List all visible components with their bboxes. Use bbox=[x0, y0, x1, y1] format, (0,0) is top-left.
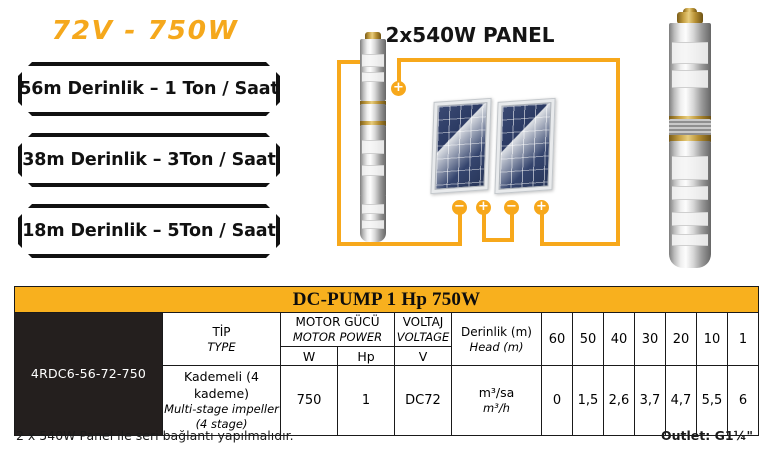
node-panel2-minus: − bbox=[504, 200, 519, 215]
spec-badge-label: 38m Derinlik – 3Ton / Saat bbox=[22, 150, 276, 170]
voltage-value-cell: DC72 bbox=[395, 366, 452, 435]
flow-value-cell: 2,6 bbox=[604, 366, 635, 435]
head-value-cell: 30 bbox=[635, 313, 666, 366]
type-header-cell: TİP TYPE bbox=[163, 313, 281, 366]
table-header-row-1: 4RDC6-56-72-750 TİP TYPE MOTOR GÜCÜ MOTO… bbox=[15, 313, 759, 347]
unit-v-cell: V bbox=[395, 347, 452, 366]
head-header-en: Head (m) bbox=[453, 340, 540, 354]
flow-value-cell: 4,7 bbox=[666, 366, 697, 435]
head-value-cell: 20 bbox=[666, 313, 697, 366]
solar-panel-cells bbox=[499, 102, 552, 190]
unit-hp-cell: Hp bbox=[338, 347, 395, 366]
wire-bottom-run-3 bbox=[540, 242, 620, 246]
head-value-cell: 40 bbox=[604, 313, 635, 366]
solar-panel-frame bbox=[430, 98, 491, 194]
voltage-header-en: VOLTAGE bbox=[396, 330, 450, 344]
wiring-diagram: 2x540W PANEL − + − + − + bbox=[300, 0, 640, 280]
flow-unit-en: m³/h bbox=[453, 401, 540, 416]
motor-power-header-cell: MOTOR GÜCÜ MOTOR POWER bbox=[281, 313, 395, 347]
spec-badge-label: 18m Derinlik – 5Ton / Saat bbox=[22, 221, 276, 241]
node-panel1-plus: + bbox=[476, 200, 491, 215]
node-panel1-minus: − bbox=[452, 200, 467, 215]
series-connection-note: 2 x 540W Panel ile seri bağlantı yapılma… bbox=[16, 428, 294, 443]
spec-badge-label: 56m Derinlik – 1 Ton / Saat bbox=[19, 79, 279, 99]
solar-panel-2 bbox=[494, 98, 555, 194]
power-w-cell: 750 bbox=[281, 366, 338, 435]
flow-unit-tr: m³/sa bbox=[453, 385, 540, 401]
voltage-header-tr: VOLTAJ bbox=[396, 315, 450, 330]
head-value-cell: 10 bbox=[697, 313, 728, 366]
solar-panel-1 bbox=[430, 98, 491, 194]
specs-panel: 72V - 750W 56m Derinlik – 1 Ton / Saat 3… bbox=[0, 0, 300, 280]
type-value-tr: Kademeli (4 kademe) bbox=[164, 369, 279, 402]
pump-product-photo bbox=[655, 8, 725, 270]
submersible-pump-large bbox=[669, 8, 711, 270]
model-number-cell: 4RDC6-56-72-750 bbox=[15, 313, 163, 436]
head-header-tr: Derinlik (m) bbox=[453, 325, 540, 340]
head-value-cell: 1 bbox=[728, 313, 759, 366]
node-panel2-plus: + bbox=[534, 200, 549, 215]
wire-right-run bbox=[616, 58, 620, 246]
power-hp-cell: 1 bbox=[338, 366, 395, 435]
solar-panel-cells bbox=[435, 102, 488, 190]
type-header-tr: TİP bbox=[164, 325, 279, 340]
type-header-en: TYPE bbox=[164, 340, 279, 354]
flow-value-cell: 1,5 bbox=[573, 366, 604, 435]
table-title-row: DC-PUMP 1 Hp 750W bbox=[15, 287, 759, 313]
voltage-header-cell: VOLTAJ VOLTAGE bbox=[395, 313, 452, 347]
unit-w-cell: W bbox=[281, 347, 338, 366]
voltage-power-title: 72V - 750W bbox=[0, 16, 293, 46]
type-value-cell: Kademeli (4 kademe) Multi-stage impeller… bbox=[163, 366, 281, 435]
spec-table: DC-PUMP 1 Hp 750W 4RDC6-56-72-750 TİP TY… bbox=[14, 286, 759, 436]
spec-badge: 18m Derinlik – 5Ton / Saat bbox=[18, 204, 280, 258]
flow-unit-cell: m³/sa m³/h bbox=[452, 366, 542, 435]
spec-badge: 38m Derinlik – 3Ton / Saat bbox=[18, 133, 280, 187]
spec-table-container: DC-PUMP 1 Hp 750W 4RDC6-56-72-750 TİP TY… bbox=[14, 286, 754, 436]
solar-panel-frame bbox=[494, 98, 555, 194]
flow-value-cell: 0 bbox=[542, 366, 573, 435]
head-value-cell: 60 bbox=[542, 313, 573, 366]
spec-badge: 56m Derinlik – 1 Ton / Saat bbox=[18, 62, 280, 116]
head-value-cell: 50 bbox=[573, 313, 604, 366]
node-pump-plus: + bbox=[391, 81, 406, 96]
flow-value-cell: 3,7 bbox=[635, 366, 666, 435]
outlet-size-note: Outlet: G1¼" bbox=[661, 428, 753, 443]
flow-value-cell: 6 bbox=[728, 366, 759, 435]
head-header-cell: Derinlik (m) Head (m) bbox=[452, 313, 542, 366]
wire-bottom-run-1 bbox=[337, 242, 462, 246]
type-value-en: Multi-stage impeller bbox=[164, 402, 279, 417]
motor-power-header-tr: MOTOR GÜCÜ bbox=[282, 315, 393, 330]
wire-top-run bbox=[397, 58, 620, 62]
submersible-pump-image bbox=[360, 32, 386, 242]
wire-pump-minus-left bbox=[337, 60, 341, 246]
diagram-title: 2x540W PANEL bbox=[300, 23, 640, 47]
motor-power-header-en: MOTOR POWER bbox=[282, 330, 393, 344]
flow-value-cell: 5,5 bbox=[697, 366, 728, 435]
table-title: DC-PUMP 1 Hp 750W bbox=[15, 287, 759, 313]
